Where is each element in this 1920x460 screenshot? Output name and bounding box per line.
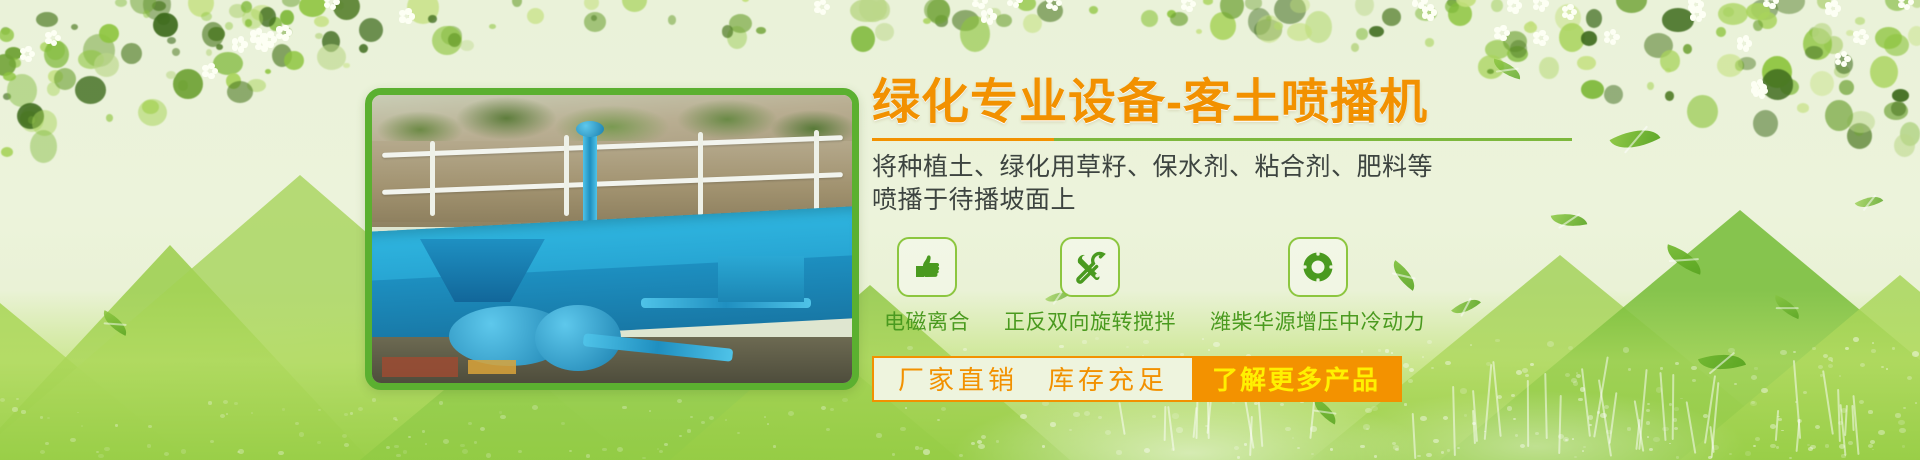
wrench-screwdriver-icon (1060, 237, 1120, 297)
feature-label-1: 电磁离合 (884, 306, 970, 336)
gear-ring-icon (1288, 237, 1348, 297)
feature-item-2: 正反双向旋转搅拌 (1004, 237, 1176, 336)
feature-label-2: 正反双向旋转搅拌 (1004, 306, 1176, 336)
thumbs-up-icon (897, 237, 957, 297)
subtitle-line-1: 将种植土、绿化用草籽、保水剂、粘合剂、肥料等 (872, 151, 1712, 184)
product-photo (365, 88, 859, 390)
feature-label-3: 潍柴华源增压中冷动力 (1210, 306, 1425, 336)
promo-banner: 绿化专业设备-客土喷播机 将种植土、绿化用草籽、保水剂、粘合剂、肥料等 喷播于待… (0, 0, 1920, 460)
learn-more-button[interactable]: 了解更多产品 (1192, 358, 1400, 400)
banner-subtitle: 将种植土、绿化用草籽、保水剂、粘合剂、肥料等 喷播于待播坡面上 (872, 151, 1712, 217)
feature-item-3: 潍柴华源增压中冷动力 (1210, 237, 1425, 336)
product-photo-image (372, 95, 852, 383)
title-underline (872, 138, 1572, 141)
leaf-icon (1491, 59, 1523, 80)
page-title: 绿化专业设备-客土喷播机 (872, 78, 1712, 129)
cta-slogan: 厂家直销 库存充足 (874, 358, 1192, 400)
feature-list: 电磁离合 正反双向旋转搅拌 (872, 237, 1712, 336)
leaf-icon (1770, 295, 1803, 319)
banner-text-panel: 绿化专业设备-客土喷播机 将种植土、绿化用草籽、保水剂、粘合剂、肥料等 喷播于待… (872, 78, 1712, 402)
feature-item-1: 电磁离合 (884, 237, 970, 336)
leaf-icon (1855, 190, 1884, 213)
subtitle-line-2: 喷播于待播坡面上 (872, 184, 1712, 217)
cta-bar: 厂家直销 库存充足 了解更多产品 (872, 356, 1402, 402)
leaf-icon (98, 310, 131, 336)
